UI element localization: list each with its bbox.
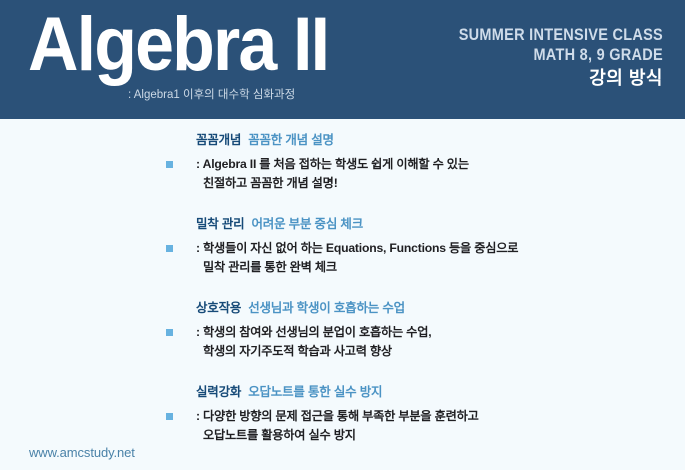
- feature-heading: 실력강화오답노트를 통한 실수 방지: [196, 383, 382, 401]
- feature-tag: 상호작용: [196, 301, 241, 315]
- feature-desc: 선생님과 학생이 호흡하는 수업: [248, 301, 405, 315]
- feature-body-line1: : 학생의 참여와 선생님의 분업이 호흡하는 수업,: [196, 325, 431, 339]
- feature-body-line1: : 다양한 방향의 문제 접근을 통해 부족한 부분을 훈련하고: [196, 409, 479, 423]
- feature-tag: 꼼꼼개념: [196, 133, 241, 147]
- header-course-type: SUMMER INTENSIVE CLASS: [399, 25, 663, 45]
- feature-desc: 꼼꼼한 개념 설명: [248, 133, 334, 147]
- header-section-title: 강의 방식: [363, 65, 663, 91]
- square-bullet-icon: [166, 413, 173, 420]
- feature-body-line2: 오답노트를 활용하여 실수 방지: [196, 426, 666, 445]
- logo-subtitle: : Algebra1 이후의 대수학 심화과정: [128, 88, 295, 102]
- feature-block: 꼼꼼개념꼼꼼한 개념 설명 : Algebra II 를 처음 접하는 학생도 …: [0, 131, 685, 211]
- header-banner: Algebra II : Algebra1 이후의 대수학 심화과정 SUMME…: [0, 0, 685, 119]
- slide-root: Algebra II : Algebra1 이후의 대수학 심화과정 SUMME…: [0, 0, 685, 470]
- feature-tag: 실력강화: [196, 385, 241, 399]
- feature-body: : 학생의 참여와 선생님의 분업이 호흡하는 수업, 학생의 자기주도적 학습…: [196, 323, 666, 360]
- feature-block: 상호작용선생님과 학생이 호흡하는 수업 : 학생의 참여와 선생님의 분업이 …: [0, 299, 685, 379]
- feature-desc: 어려운 부분 중심 체크: [251, 217, 363, 231]
- feature-heading: 밀착 관리어려운 부분 중심 체크: [196, 215, 363, 233]
- feature-body: : 다양한 방향의 문제 접근을 통해 부족한 부분을 훈련하고 오답노트를 활…: [196, 407, 666, 444]
- feature-body: : 학생들이 자신 없어 하는 Equations, Functions 등을 …: [196, 239, 666, 276]
- feature-body-line1: : Algebra II 를 처음 접하는 학생도 쉽게 이해할 수 있는: [196, 157, 469, 171]
- feature-body-line1: : 학생들이 자신 없어 하는 Equations, Functions 등을 …: [196, 241, 518, 255]
- square-bullet-icon: [166, 161, 173, 168]
- feature-body: : Algebra II 를 처음 접하는 학생도 쉽게 이해할 수 있는 친절…: [196, 155, 666, 192]
- header-meta: SUMMER INTENSIVE CLASS MATH 8, 9 GRADE 강…: [363, 25, 663, 91]
- feature-block: 밀착 관리어려운 부분 중심 체크 : 학생들이 자신 없어 하는 Equati…: [0, 215, 685, 295]
- page-title: Algebra II: [28, 6, 396, 84]
- square-bullet-icon: [166, 245, 173, 252]
- feature-heading: 상호작용선생님과 학생이 호흡하는 수업: [196, 299, 405, 317]
- header-grade-level: MATH 8, 9 GRADE: [399, 45, 663, 65]
- square-bullet-icon: [166, 329, 173, 336]
- content-area: 꼼꼼개념꼼꼼한 개념 설명 : Algebra II 를 처음 접하는 학생도 …: [0, 119, 685, 470]
- feature-desc: 오답노트를 통한 실수 방지: [248, 385, 382, 399]
- footer-website-link[interactable]: www.amcstudy.net: [29, 444, 135, 461]
- feature-body-line2: 밀착 관리를 통한 완벽 체크: [196, 258, 666, 277]
- feature-heading: 꼼꼼개념꼼꼼한 개념 설명: [196, 131, 334, 149]
- feature-body-line2: 친절하고 꼼꼼한 개념 설명!: [196, 174, 666, 193]
- feature-tag: 밀착 관리: [196, 217, 244, 231]
- feature-body-line2: 학생의 자기주도적 학습과 사고력 향상: [196, 342, 666, 361]
